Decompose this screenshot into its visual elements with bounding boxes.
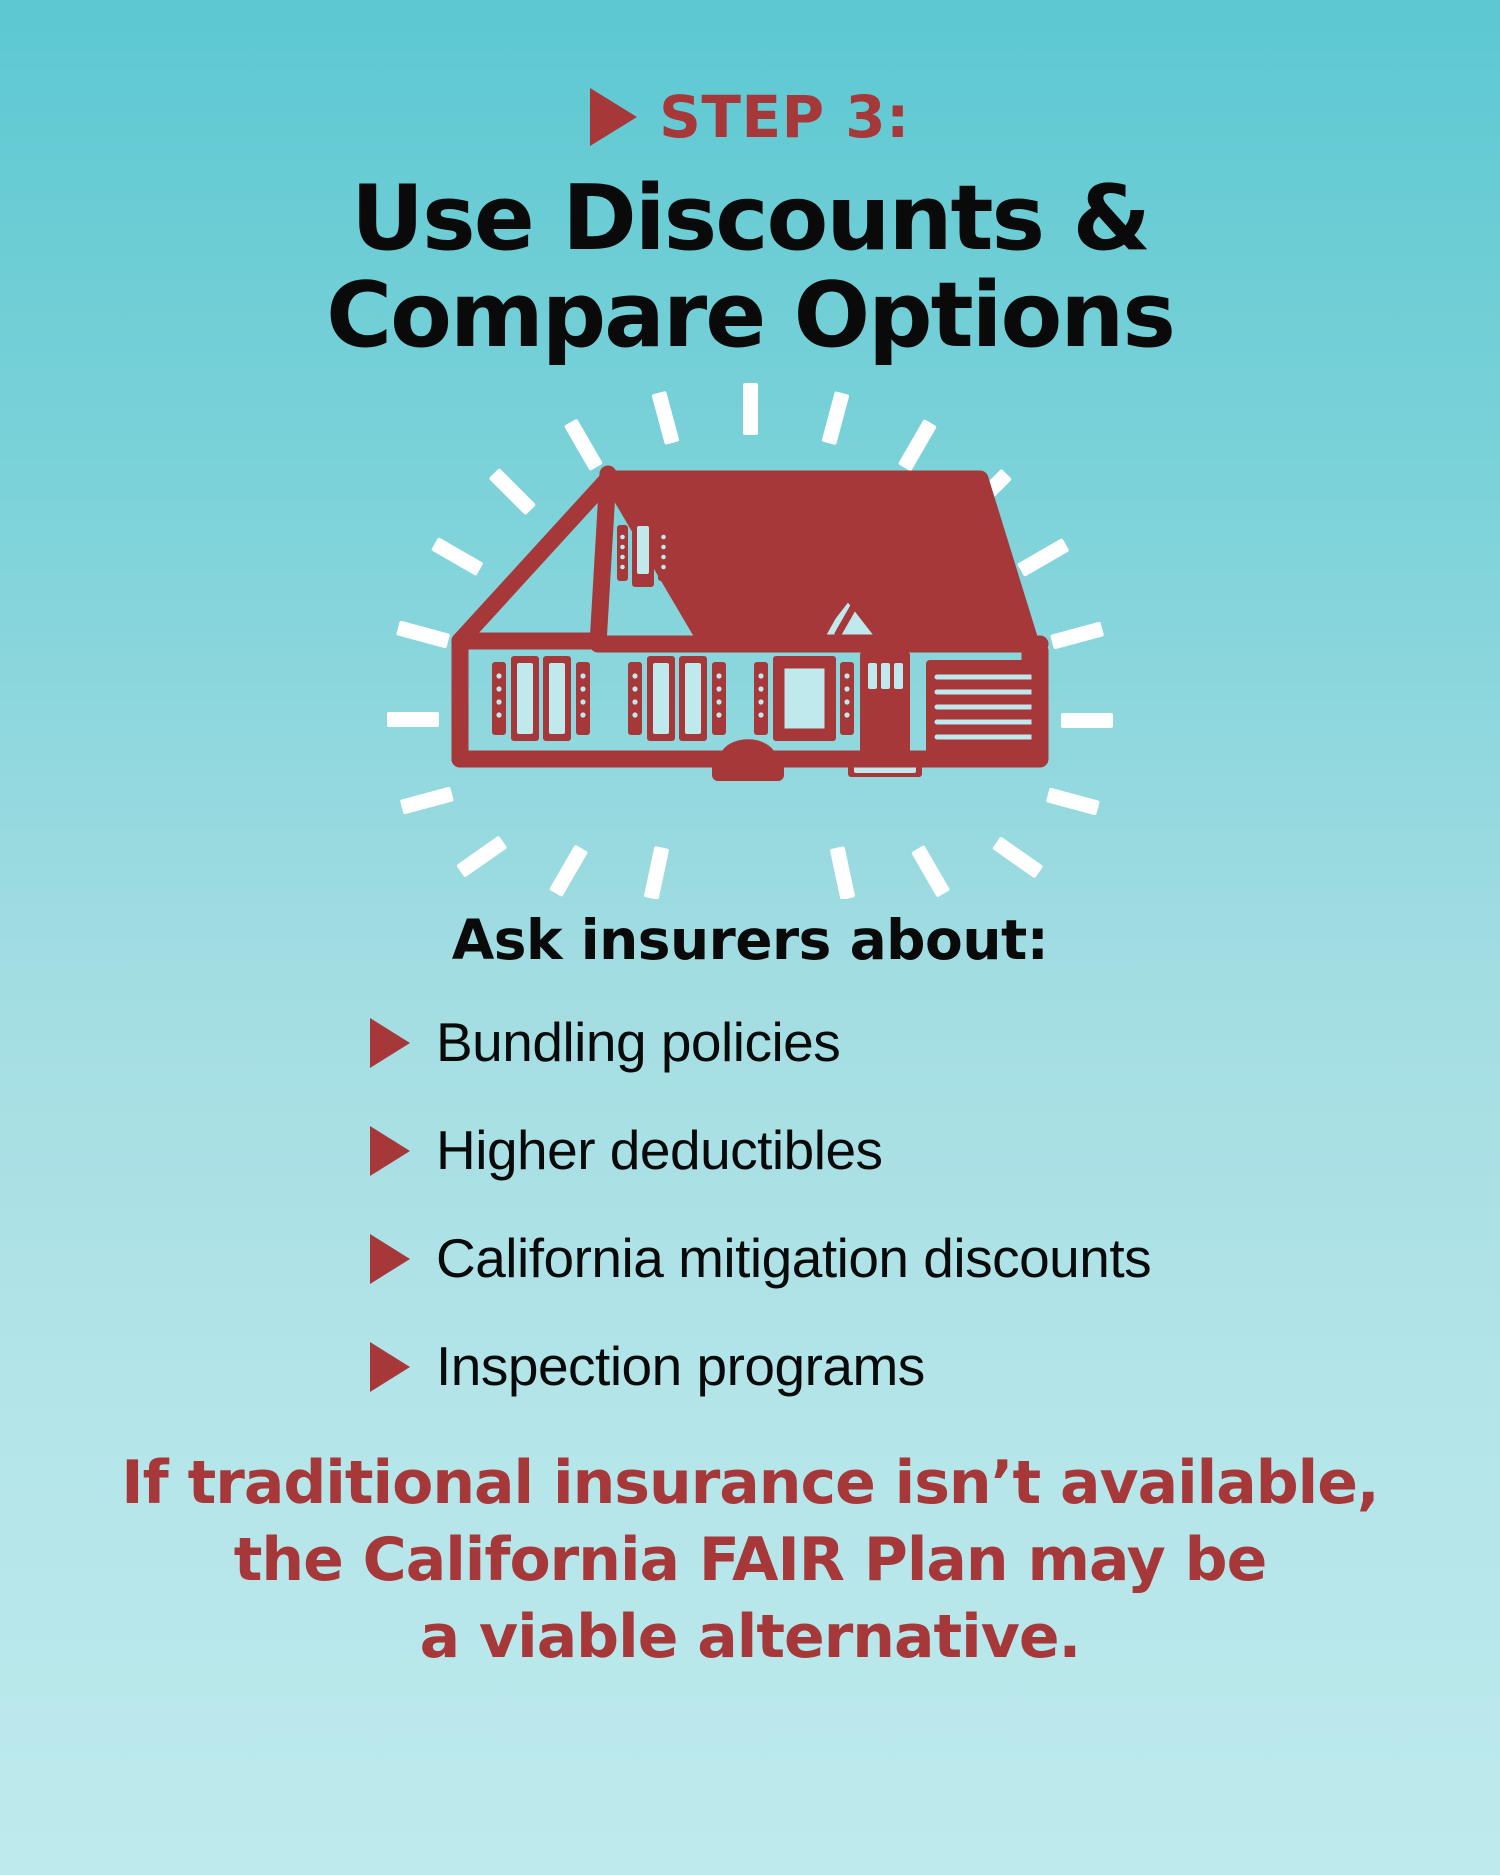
- garage-door: [926, 660, 1044, 759]
- list-item-label: Higher deductibles: [436, 1122, 883, 1180]
- list-item[interactable]: California mitigation discounts: [370, 1230, 1130, 1288]
- play-triangle-icon: [370, 1234, 410, 1284]
- house-with-rays-illustration: [0, 374, 1500, 904]
- page-title-line-2: Compare Options: [326, 263, 1174, 368]
- list-item-label: California mitigation discounts: [436, 1230, 1151, 1288]
- play-triangle-icon: [370, 1126, 410, 1176]
- play-triangle-icon: [590, 88, 637, 146]
- list-item-label: Inspection programs: [436, 1338, 925, 1396]
- callout-line-2: the California FAIR Plan may be: [70, 1522, 1430, 1599]
- benefits-list: Bundling policies Higher deductibles Cal…: [370, 1014, 1130, 1395]
- window-right: [754, 656, 854, 741]
- attic-vent-window: [617, 519, 669, 587]
- house-illustration-svg: [340, 379, 1160, 899]
- window-left-b: [628, 656, 726, 741]
- step-label: STEP 3:: [659, 88, 910, 146]
- fair-plan-callout: If traditional insurance isn’t available…: [0, 1445, 1500, 1675]
- page-title: Use Discounts & Compare Options: [0, 170, 1500, 364]
- list-heading: Ask insurers about:: [0, 908, 1500, 972]
- page-title-line-1: Use Discounts &: [351, 166, 1149, 271]
- step-eyebrow: STEP 3:: [0, 0, 1500, 146]
- callout-line-1: If traditional insurance isn’t available…: [70, 1445, 1430, 1522]
- list-item[interactable]: Higher deductibles: [370, 1122, 1130, 1180]
- list-item[interactable]: Bundling policies: [370, 1014, 1130, 1072]
- play-triangle-icon: [370, 1018, 410, 1068]
- list-item-label: Bundling policies: [436, 1014, 840, 1072]
- list-item[interactable]: Inspection programs: [370, 1338, 1130, 1396]
- callout-line-3: a viable alternative.: [70, 1599, 1430, 1676]
- play-triangle-icon: [370, 1342, 410, 1392]
- window-left-a: [492, 656, 590, 741]
